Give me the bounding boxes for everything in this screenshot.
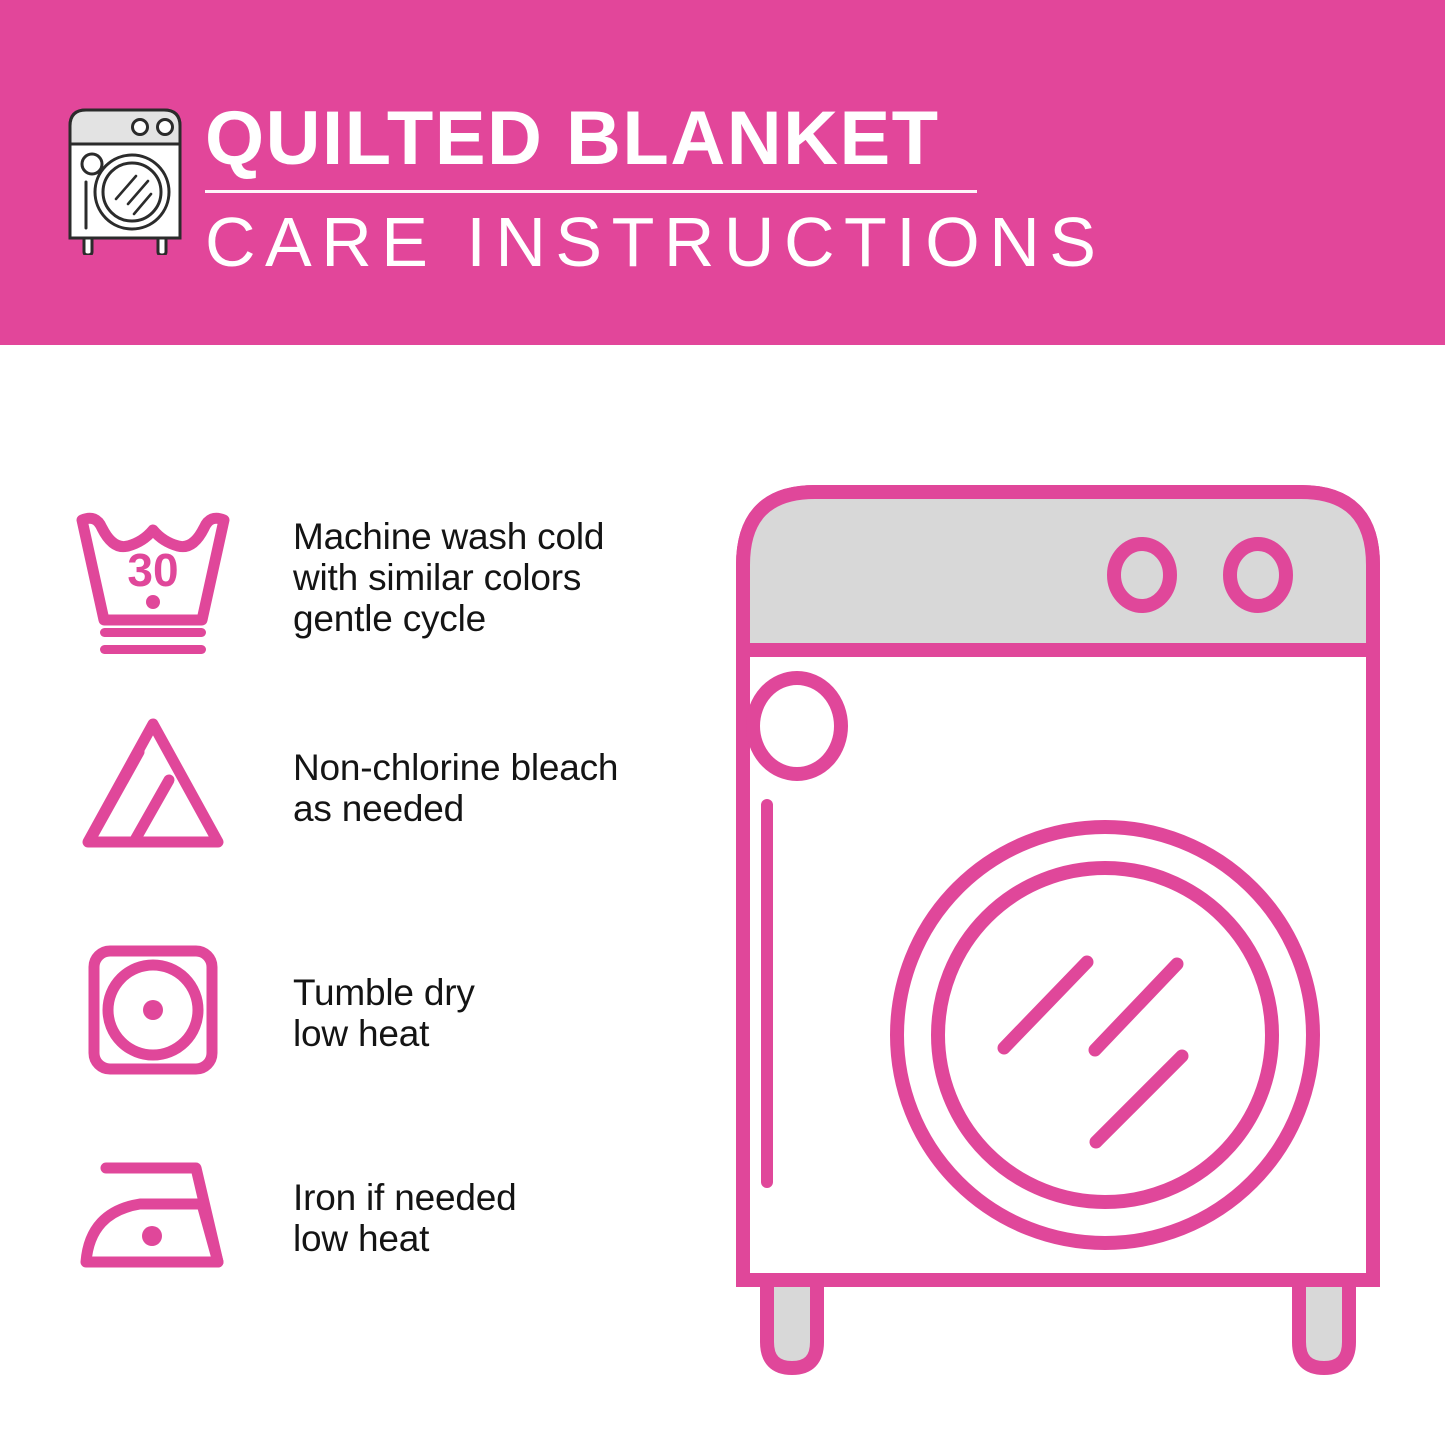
wash-temperature-value: 30: [127, 544, 178, 596]
washer-foot-right: [1299, 1280, 1349, 1368]
tumble-dry-low-icon: [60, 930, 245, 1095]
care-line: with similar colors: [293, 557, 604, 598]
page-subtitle: CARE INSTRUCTIONS: [205, 202, 995, 282]
iron-low-heat-icon: [60, 1135, 245, 1300]
care-line: as needed: [293, 788, 618, 829]
washer-indicator-dial: [753, 678, 841, 774]
header-text-block: QUILTED BLANKET CARE INSTRUCTIONS: [205, 96, 995, 282]
care-row-bleach: Non-chlorine bleach as needed: [60, 705, 680, 870]
washer-knob-right: [1230, 544, 1286, 606]
care-row-iron: Iron if needed low heat: [60, 1135, 680, 1300]
care-row-machine-wash: 30 Machine wash cold with similar colors…: [60, 495, 680, 660]
care-label-iron: Iron if needed low heat: [245, 1177, 516, 1259]
care-label-bleach: Non-chlorine bleach as needed: [245, 747, 618, 829]
non-chlorine-bleach-triangle-icon: [60, 705, 245, 870]
care-label-tumble-dry: Tumble dry low heat: [245, 972, 475, 1054]
large-washing-machine-illustration: [705, 470, 1410, 1375]
care-line: Non-chlorine bleach: [293, 747, 618, 788]
washing-machine-logo-icon: [62, 100, 188, 255]
care-instructions-poster: QUILTED BLANKET CARE INSTRUCTIONS 30: [0, 0, 1445, 1445]
care-line: Machine wash cold: [293, 516, 604, 557]
care-instruction-list: 30 Machine wash cold with similar colors…: [0, 345, 700, 1445]
care-line: Tumble dry: [293, 972, 475, 1013]
washer-foot-left: [767, 1280, 817, 1368]
care-label-machine-wash: Machine wash cold with similar colors ge…: [245, 516, 604, 639]
wash-tub-30-gentle-icon: 30: [60, 495, 245, 660]
title-divider: [205, 190, 977, 193]
care-line: gentle cycle: [293, 598, 604, 639]
page-title: QUILTED BLANKET: [205, 96, 995, 182]
care-line: low heat: [293, 1218, 516, 1259]
care-line: Iron if needed: [293, 1177, 516, 1218]
header-banner: QUILTED BLANKET CARE INSTRUCTIONS: [0, 0, 1445, 345]
washer-knob-left: [1114, 544, 1170, 606]
care-row-tumble-dry: Tumble dry low heat: [60, 930, 680, 1095]
care-line: low heat: [293, 1013, 475, 1054]
